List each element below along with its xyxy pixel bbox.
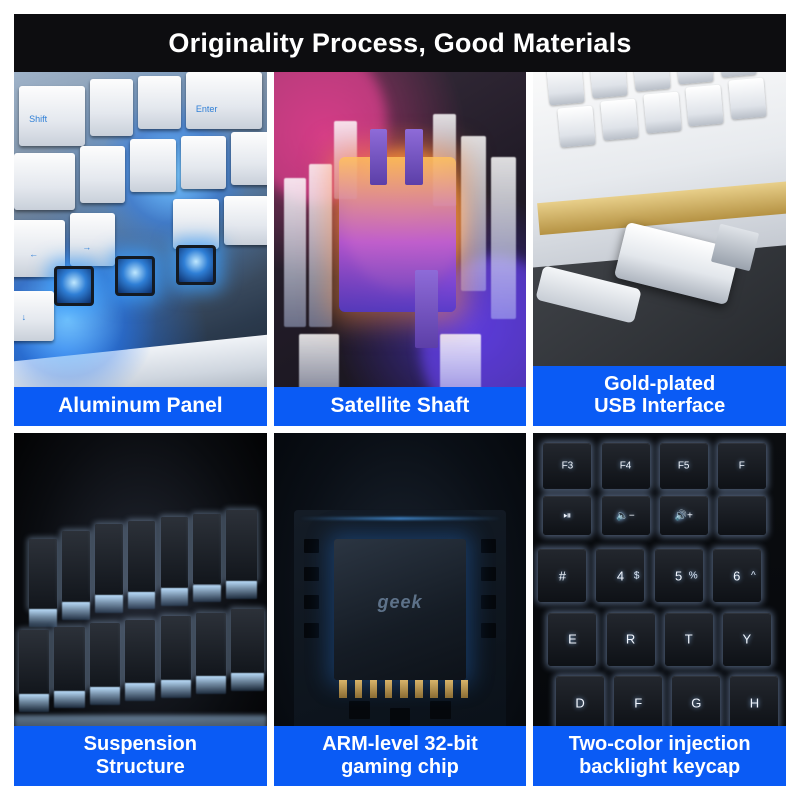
keycap (90, 623, 120, 687)
mechanical-switch (54, 266, 94, 306)
key-media-extra (718, 496, 766, 535)
frosted-keycap (309, 164, 332, 327)
key-underglow (62, 602, 90, 620)
key-sublabel: ^ (751, 570, 756, 581)
keycap (590, 72, 629, 98)
chip-pin (430, 680, 438, 698)
chip-pin (355, 680, 363, 698)
keycap (70, 213, 115, 266)
keycap-arrow-icon: ↓ (22, 312, 27, 322)
key-underglow (226, 581, 256, 599)
key-label: R (607, 632, 655, 647)
key-t: T (665, 613, 713, 666)
caption-line-2: USB Interface (535, 395, 784, 417)
keycap-label-shift: Shift (29, 114, 47, 124)
caption-two-color-keycap: Two-color injection backlight keycap (533, 726, 786, 786)
smd-component (390, 708, 410, 726)
key-underglow (128, 592, 156, 610)
poster: Originality Process, Good Materials Shif… (0, 0, 800, 800)
key-label: F (718, 461, 766, 472)
play-pause-icon: ⏯ (543, 510, 591, 521)
keycap (181, 136, 226, 189)
page-title: Originality Process, Good Materials (168, 28, 631, 59)
feature-tile-aluminum-panel[interactable]: Shift Enter ← → (14, 72, 267, 426)
smd-component (430, 701, 450, 719)
keycap (186, 72, 262, 129)
keycap (173, 199, 218, 248)
feature-tile-gold-plated-usb[interactable]: Gold-plated USB Interface (533, 72, 786, 426)
key-r: R (607, 613, 655, 666)
key-number-3: # (538, 549, 586, 602)
keycap (226, 510, 256, 581)
key-label: T (665, 632, 713, 647)
keycap (90, 79, 133, 136)
photo-satellite-shaft (274, 72, 527, 426)
chip-pin (415, 680, 423, 698)
switch-housing (339, 157, 455, 313)
key-f4: F4 (602, 443, 650, 489)
mechanical-switch (115, 256, 155, 296)
key-f6: F (718, 443, 766, 489)
keycap (19, 630, 49, 694)
keycap (14, 291, 54, 340)
smd-component (349, 701, 369, 719)
frosted-keycap (284, 178, 307, 326)
volume-down-icon: 🔈− (602, 510, 650, 521)
key-label: E (548, 632, 596, 647)
keycap (161, 517, 189, 588)
chip-pin (400, 680, 408, 698)
caption-line-1: Two-color injection (535, 733, 784, 755)
key-media-volume-up: 🔊+ (660, 496, 708, 535)
key-underglow (196, 676, 226, 694)
key-y: Y (723, 613, 771, 666)
keycap (80, 146, 125, 203)
smd-component (304, 623, 319, 637)
chip-marking-label: geek (334, 592, 465, 613)
key-e: E (548, 613, 596, 666)
key-number-6: 6 ^ (713, 549, 761, 602)
feature-grid: Shift Enter ← → (14, 72, 786, 786)
keycap (62, 531, 90, 602)
caption-line-2: Structure (16, 756, 265, 778)
key-underglow (161, 680, 191, 698)
key-underglow (125, 683, 155, 701)
key-number-5: 5 % (655, 549, 703, 602)
frosted-keycap (461, 136, 486, 292)
smd-component (304, 595, 319, 609)
chip-pin (385, 680, 393, 698)
key-sublabel: $ (634, 570, 640, 581)
blue-edge-glow (299, 517, 501, 520)
caption-arm-chip: ARM-level 32-bit gaming chip (274, 726, 527, 786)
key-number-4: 4 $ (596, 549, 644, 602)
feature-tile-suspension-structure[interactable]: Suspension Structure (14, 433, 267, 787)
key-label: F5 (660, 461, 708, 472)
controller-chip: geek (334, 539, 465, 680)
satellite-shaft-stem (415, 270, 438, 348)
keycap (231, 609, 264, 673)
keycap (633, 72, 672, 91)
caption-line-1: Gold-plated (535, 373, 784, 395)
feature-tile-arm-chip[interactable]: geek ARM-level 32-bit gaming chip (274, 433, 527, 787)
caption-suspension-structure: Suspension Structure (14, 726, 267, 786)
keycap (600, 99, 639, 141)
key-f5: F5 (660, 443, 708, 489)
key-media-playpause: ⏯ (543, 496, 591, 535)
key-d: D (556, 676, 604, 729)
keycap (547, 72, 586, 105)
photo-aluminum-panel: Shift Enter ← → (14, 72, 267, 426)
key-underglow (95, 595, 123, 613)
keycap (95, 524, 123, 595)
key-sublabel: % (689, 570, 698, 581)
caption-line-2: backlight keycap (535, 756, 784, 778)
feature-tile-satellite-shaft[interactable]: Satellite Shaft (274, 72, 527, 426)
key-label: F3 (543, 461, 591, 472)
keycap (557, 106, 596, 148)
keycap (729, 78, 768, 120)
keycap (231, 132, 266, 185)
key-label: F4 (602, 461, 650, 472)
switch-stem (405, 129, 423, 186)
key-underglow (54, 691, 84, 709)
keycap (130, 139, 175, 192)
keycap-arrow-icon: ← (29, 249, 38, 259)
caption-aluminum-panel: Aluminum Panel (14, 387, 267, 426)
key-underglow (29, 609, 57, 627)
keycap (161, 616, 191, 680)
keycap (54, 627, 84, 691)
caption-line-2: gaming chip (276, 756, 525, 778)
keycap (196, 613, 226, 677)
key-underglow (193, 585, 221, 603)
frosted-keycap (491, 157, 516, 320)
key-f3: F3 (543, 443, 591, 489)
volume-up-icon: 🔊+ (660, 510, 708, 521)
keycap (193, 514, 221, 585)
key-underglow (161, 588, 189, 606)
key-h: H (730, 676, 778, 729)
key-underglow (19, 694, 49, 712)
keycap (686, 85, 725, 127)
mechanical-switch (176, 245, 216, 285)
key-label: D (556, 695, 604, 710)
smd-component (481, 539, 496, 553)
feature-tile-two-color-keycap[interactable]: F3 F4 F5 F ⏯ 🔈− 🔊+ (533, 433, 786, 787)
keycap (643, 92, 682, 134)
key-g: G (672, 676, 720, 729)
caption-satellite-shaft: Satellite Shaft (274, 387, 527, 426)
smd-component (304, 567, 319, 581)
key-label: Y (723, 632, 771, 647)
key-label: G (672, 695, 720, 710)
keycap (29, 539, 57, 610)
keycap-arrow-icon: → (82, 242, 91, 252)
keycap (224, 196, 267, 245)
keycap (128, 521, 156, 592)
key-label: H (730, 695, 778, 710)
smd-component (481, 623, 496, 637)
keycap (125, 620, 155, 684)
switch-stem (370, 129, 388, 186)
key-underglow (231, 673, 264, 691)
key-label: # (538, 568, 586, 583)
keycap-label-enter: Enter (196, 104, 218, 114)
key-label: F (614, 695, 662, 710)
chip-pin (370, 680, 378, 698)
chip-pin (339, 680, 347, 698)
caption-gold-plated-usb: Gold-plated USB Interface (533, 366, 786, 426)
poster-title-bar: Originality Process, Good Materials (14, 14, 786, 72)
smd-component (304, 539, 319, 553)
chip-pin (461, 680, 469, 698)
key-underglow (90, 687, 120, 705)
key-f: F (614, 676, 662, 729)
smd-component (481, 595, 496, 609)
key-media-volume-down: 🔈− (602, 496, 650, 535)
caption-line-1: Suspension (16, 733, 265, 755)
keycap (138, 76, 181, 129)
smd-component (481, 567, 496, 581)
keycap (14, 153, 75, 210)
caption-line-1: ARM-level 32-bit (276, 733, 525, 755)
chip-pin (445, 680, 453, 698)
